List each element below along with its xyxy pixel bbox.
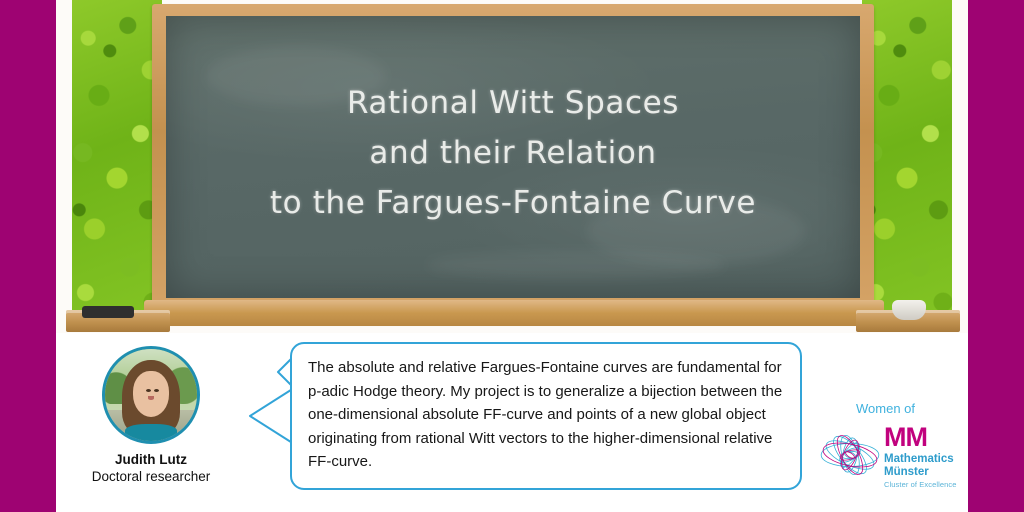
logo-mm-wordmark: MM bbox=[884, 423, 927, 451]
spiral-rosette-icon bbox=[814, 419, 886, 491]
logo-muenster: Münster bbox=[884, 466, 929, 479]
poster-slide: Rational Witt Spaces and their Relation … bbox=[0, 0, 1024, 512]
title-line-3: to the Fargues-Fontaine Curve bbox=[166, 178, 860, 228]
avatar-shirt bbox=[125, 424, 177, 441]
speech-bubble-text: The absolute and relative Fargues-Fontai… bbox=[292, 344, 800, 474]
board-title: Rational Witt Spaces and their Relation … bbox=[166, 78, 860, 228]
speech-bubble-wrapper: The absolute and relative Fargues-Fontai… bbox=[232, 342, 802, 492]
chalk-smudge bbox=[426, 251, 726, 279]
person-role: Doctoral researcher bbox=[66, 469, 236, 484]
chalk-ledge bbox=[144, 300, 884, 326]
logo-women-of-label: Women of bbox=[856, 401, 915, 416]
avatar-face bbox=[133, 371, 170, 417]
logo-mathematics: Mathematics bbox=[884, 453, 954, 466]
chalk-bowl bbox=[892, 300, 926, 320]
moss-panel-left bbox=[72, 0, 162, 318]
avatar-mouth bbox=[148, 396, 154, 399]
person-block: Judith Lutz Doctoral researcher bbox=[66, 346, 236, 484]
logo-cluster-label: Cluster of Excellence bbox=[884, 480, 957, 489]
chalkboard-surface: Rational Witt Spaces and their Relation … bbox=[166, 16, 860, 298]
title-line-2: and their Relation bbox=[166, 128, 860, 178]
speech-bubble: The absolute and relative Fargues-Fontai… bbox=[290, 342, 802, 490]
person-name: Judith Lutz bbox=[66, 452, 236, 467]
logo-block: Women of bbox=[814, 401, 966, 501]
chalkboard-banner: Rational Witt Spaces and their Relation … bbox=[56, 0, 968, 333]
avatar bbox=[102, 346, 200, 444]
moss-panel-right bbox=[862, 0, 952, 318]
avatar-eye-left bbox=[146, 389, 151, 392]
blackboard-sponge bbox=[82, 306, 134, 318]
lower-info-panel: Judith Lutz Doctoral researcher The abso… bbox=[56, 333, 968, 512]
title-line-1: Rational Witt Spaces bbox=[166, 78, 860, 128]
avatar-eye-right bbox=[154, 389, 159, 392]
magenta-sidebar-right bbox=[968, 0, 1024, 512]
magenta-sidebar-left bbox=[0, 0, 56, 512]
